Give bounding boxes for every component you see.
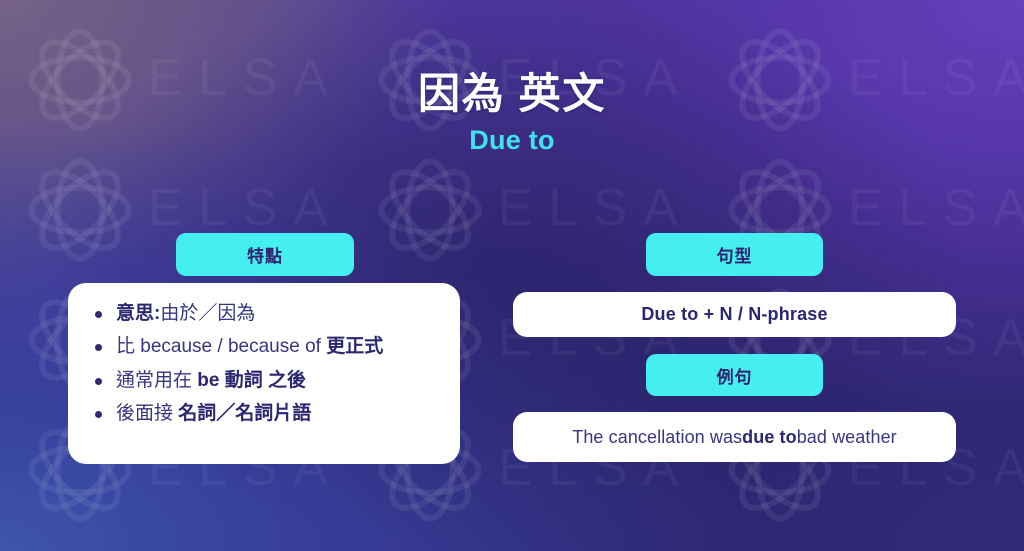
bullet-text: 通常用在 <box>116 370 197 391</box>
example-sentence: The cancellation was due to bad weather <box>513 412 956 462</box>
example-badge-label: 例句 <box>717 363 753 388</box>
example-highlight: due to <box>742 427 797 448</box>
bullet-bold-suffix: 名詞／名詞片語 <box>178 403 311 424</box>
example-prefix: The cancellation was <box>572 427 742 448</box>
list-item: 比 because / because of 更正式 <box>90 332 446 361</box>
bullet-bold-suffix: 更正式 <box>326 336 383 357</box>
pattern-card: Due to + N / N-phrase <box>513 292 956 337</box>
pattern-badge-label: 句型 <box>717 242 753 267</box>
bullet-text: 比 because / because of <box>116 336 326 357</box>
list-item: 意思:由於／因為 <box>90 299 446 328</box>
bullet-text: 後面接 <box>116 403 178 424</box>
bullet-text: 由於／因為 <box>160 303 255 324</box>
pattern-text: Due to + N / N-phrase <box>513 292 956 337</box>
example-card: The cancellation was due to bad weather <box>513 412 956 462</box>
features-badge-label: 特點 <box>247 242 283 267</box>
bullet-bold-suffix: be 動詞 之後 <box>197 370 306 391</box>
list-item: 後面接 名詞／名詞片語 <box>90 399 446 428</box>
bullet-bold-prefix: 意思: <box>116 303 160 324</box>
example-suffix: bad weather <box>797 427 897 448</box>
pattern-badge: 句型 <box>646 233 823 276</box>
slide-content: 特點 意思:由於／因為 比 because / because of 更正式 通… <box>0 0 1024 551</box>
list-item: 通常用在 be 動詞 之後 <box>90 366 446 395</box>
slide-canvas: ELSA ELSA ELSA ELSA ELSA ELSA <box>0 0 1024 551</box>
example-badge: 例句 <box>646 354 823 396</box>
features-bullet-list: 意思:由於／因為 比 because / because of 更正式 通常用在… <box>90 299 446 429</box>
features-badge: 特點 <box>176 233 354 276</box>
features-card: 意思:由於／因為 比 because / because of 更正式 通常用在… <box>68 283 460 464</box>
